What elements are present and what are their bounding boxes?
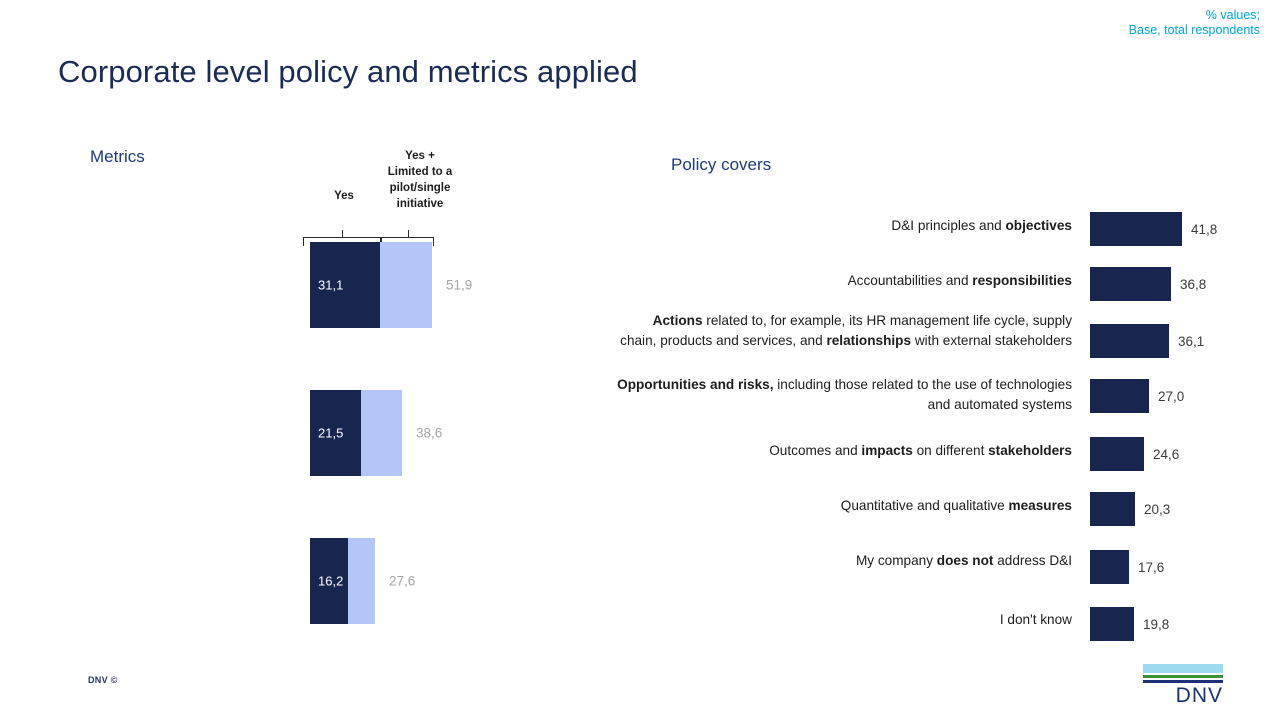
metric-bar-value-yes: 16,2	[318, 574, 343, 589]
dnv-logo: DNV	[1143, 664, 1223, 707]
policy-bar	[1090, 267, 1171, 301]
policy-value: 19,8	[1143, 617, 1169, 632]
logo-band-cyan	[1143, 664, 1223, 673]
metrics-section-heading: Metrics	[90, 147, 145, 167]
policy-label: I don't know	[617, 610, 1072, 630]
metric-bar-segment-yes-plus	[348, 538, 375, 624]
base-note: % values; Base, total respondents	[1129, 8, 1260, 38]
metric-bar-segment-yes: 16,2	[310, 538, 348, 624]
policy-value: 36,8	[1180, 277, 1206, 292]
policy-label: My company does not address D&I	[617, 551, 1072, 571]
policy-value: 17,6	[1138, 560, 1164, 575]
metric-bar-value-yes: 21,5	[318, 426, 343, 441]
metric-bar-total: 27,6	[389, 574, 415, 589]
policy-bar	[1090, 492, 1135, 526]
metric-bar-area: 21,5 38,6	[310, 390, 402, 476]
policy-value: 27,0	[1158, 389, 1184, 404]
policy-bar	[1090, 324, 1169, 358]
policy-value: 36,1	[1178, 334, 1204, 349]
base-note-line1: % values;	[1129, 8, 1260, 23]
copyright-text: DNV ©	[88, 675, 118, 685]
policy-bar	[1090, 550, 1129, 584]
column-header-yes: Yes	[310, 188, 378, 204]
metric-bar-value-yes: 31,1	[318, 278, 343, 293]
base-note-line2: Base, total respondents	[1129, 23, 1260, 38]
metric-bar-total: 38,6	[416, 426, 442, 441]
metric-bar-total: 51,9	[446, 278, 472, 293]
page-title: Corporate level policy and metrics appli…	[58, 52, 638, 92]
policy-label: Accountabilities and responsibilities	[617, 271, 1072, 291]
policy-label: D&I principles and objectives	[617, 216, 1072, 236]
metric-row: Has your company set performance indicat…	[0, 538, 500, 624]
metric-bar-area: 31,1 51,9	[310, 242, 432, 328]
metric-row: Has your company set goals for D&I initi…	[0, 390, 500, 476]
logo-wordmark: DNV	[1143, 684, 1223, 707]
policy-bar	[1090, 437, 1144, 471]
policy-label: Opportunities and risks, including those…	[617, 375, 1072, 414]
metric-bar-segment-yes: 31,1	[310, 242, 380, 328]
metric-bar-segment-yes: 21,5	[310, 390, 361, 476]
metric-bar-segment-yes-plus	[380, 242, 432, 328]
policy-bar	[1090, 607, 1134, 641]
metric-row: Has your company set a policy in the are…	[0, 242, 500, 328]
policy-value: 41,8	[1191, 222, 1217, 237]
metric-bar-area: 16,2 27,6	[310, 538, 375, 624]
policy-value: 24,6	[1153, 447, 1179, 462]
policy-section-heading: Policy covers	[671, 155, 771, 175]
policy-bar	[1090, 212, 1182, 246]
logo-band-navy	[1143, 680, 1223, 683]
column-header-yes-plus: Yes +Limited to apilot/singleinitiative	[380, 148, 460, 212]
bracket-yes-plus-tick	[408, 230, 409, 238]
policy-value: 20,3	[1144, 502, 1170, 517]
bracket-yes-tick	[342, 230, 343, 238]
logo-band-green	[1143, 675, 1223, 678]
policy-label: Actions related to, for example, its HR …	[617, 311, 1072, 350]
policy-bar	[1090, 379, 1149, 413]
policy-label: Outcomes and impacts on different stakeh…	[617, 441, 1072, 461]
policy-label: Quantitative and qualitative measures	[617, 496, 1072, 516]
metric-bar-segment-yes-plus	[361, 390, 402, 476]
